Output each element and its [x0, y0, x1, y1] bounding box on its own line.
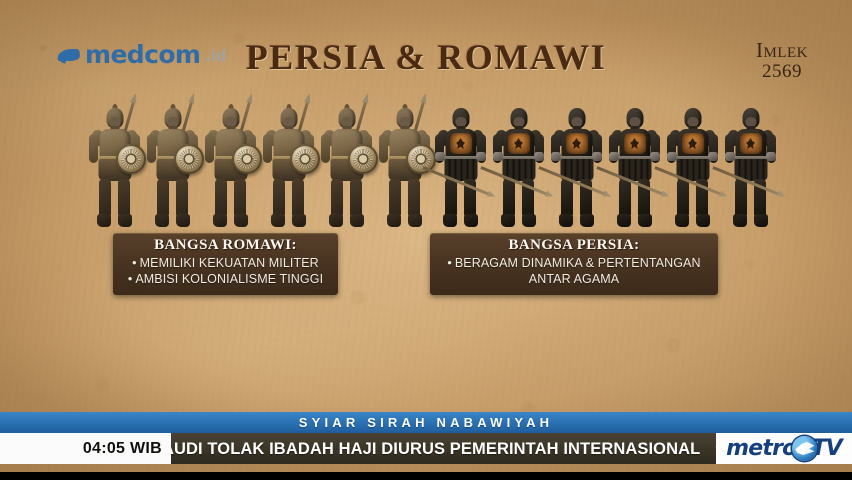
boot-left: [559, 214, 573, 227]
imlek-year: 2569: [756, 62, 808, 81]
boot-left: [617, 214, 631, 227]
broadcast-screen: medcom .id PERSIA & ROMAWI Imlek 2569: [0, 0, 852, 480]
persian-soldiers-group: [432, 108, 779, 230]
roman-soldier: [202, 108, 259, 230]
boot-left: [675, 214, 689, 227]
boot-right: [408, 214, 422, 227]
roman-soldier: [86, 108, 143, 230]
boot-left: [501, 214, 515, 227]
bullet-icon: •: [132, 256, 136, 270]
persian-soldier: [664, 108, 721, 230]
roman-soldiers-group: [86, 108, 433, 230]
boot-left: [271, 214, 285, 227]
bracer-right: [592, 152, 602, 161]
metrotv-logo: metro TV: [716, 433, 852, 464]
persian-soldier: [722, 108, 779, 230]
caption-item-text-continued: ANTAR AGAMA: [440, 272, 708, 288]
boot-left: [443, 214, 457, 227]
caption-title-romawi: BANGSA ROMAWI:: [123, 237, 328, 254]
leg-left: [445, 179, 457, 217]
caption-box-persia: BANGSA PERSIA: •BERAGAM DINAMIKA & PERTE…: [430, 233, 718, 295]
bracer-right: [650, 152, 660, 161]
bullet-icon: •: [128, 272, 132, 286]
boot-right: [464, 214, 478, 227]
caption-list-persia: •BERAGAM DINAMIKA & PERTENTANGAN ANTAR A…: [440, 256, 708, 288]
arm-left: [89, 134, 98, 163]
roman-soldier: [318, 108, 375, 230]
imlek-label: Imlek: [756, 40, 808, 61]
boot-right: [580, 214, 594, 227]
program-title: SYIAR SIRAH NABAWIYAH: [299, 415, 554, 430]
boot-right: [350, 214, 364, 227]
leg-right: [176, 179, 188, 217]
leg-left: [735, 179, 747, 217]
news-ticker-row: 04:05 WIB AUDI TOLAK IBADAH HAJI DIURUS …: [0, 433, 852, 464]
arm-left: [321, 134, 330, 163]
persian-soldier: [606, 108, 663, 230]
boot-right: [176, 214, 190, 227]
roman-soldier: [144, 108, 201, 230]
ornate-breastplate-icon: [624, 133, 646, 154]
bracer-right: [534, 152, 544, 161]
ornate-breastplate-icon: [740, 133, 762, 154]
leg-left: [215, 179, 227, 217]
separator-dot-icon: ●: [714, 438, 716, 457]
boot-right: [292, 214, 306, 227]
caption-item-text: MEMILIKI KEKUATAN MILITER: [140, 256, 319, 270]
headline-text: AUDI TOLAK IBADAH HAJI DIURUS PEMERINTAH…: [171, 440, 700, 458]
caption-item: •MEMILIKI KEKUATAN MILITER: [123, 256, 328, 272]
boot-right: [118, 214, 132, 227]
caption-title-persia: BANGSA PERSIA:: [440, 237, 708, 254]
leg-left: [503, 179, 515, 217]
boot-right: [638, 214, 652, 227]
caption-item-text: AMBISI KOLONIALISME TINGGI: [135, 272, 323, 286]
leg-left: [331, 179, 343, 217]
headline-text-wrap: AUDI TOLAK IBADAH HAJI DIURUS PEMERINTAH…: [171, 438, 716, 459]
arm-left: [379, 134, 388, 163]
leg-left: [677, 179, 689, 217]
ornate-breastplate-icon: [508, 133, 530, 154]
arm-left: [205, 134, 214, 163]
boot-left: [733, 214, 747, 227]
boot-right: [522, 214, 536, 227]
round-shield-icon: [116, 144, 146, 174]
imlek-badge: Imlek 2569: [756, 40, 808, 81]
leg-right: [234, 179, 246, 217]
arm-left: [147, 134, 156, 163]
bracer-right: [708, 152, 718, 161]
boot-left: [213, 214, 227, 227]
arm-left: [263, 134, 272, 163]
persian-soldier: [548, 108, 605, 230]
round-shield-icon: [348, 144, 378, 174]
ornate-breastplate-icon: [566, 133, 588, 154]
leg-right: [292, 179, 304, 217]
ornate-breastplate-icon: [682, 133, 704, 154]
roman-soldier: [260, 108, 317, 230]
round-shield-icon: [232, 144, 262, 174]
round-shield-icon: [174, 144, 204, 174]
leg-right: [118, 179, 130, 217]
page-title: PERSIA & ROMAWI: [0, 36, 852, 78]
boot-right: [696, 214, 710, 227]
headline-ticker[interactable]: AUDI TOLAK IBADAH HAJI DIURUS PEMERINTAH…: [171, 433, 716, 464]
boot-left: [97, 214, 111, 227]
caption-item: •BERAGAM DINAMIKA & PERTENTANGAN ANTAR A…: [440, 256, 708, 288]
leg-left: [619, 179, 631, 217]
caption-list-romawi: •MEMILIKI KEKUATAN MILITER •AMBISI KOLON…: [123, 256, 328, 288]
boot-left: [387, 214, 401, 227]
leg-left: [389, 179, 401, 217]
leg-left: [99, 179, 111, 217]
boot-right: [234, 214, 248, 227]
program-title-bar: SYIAR SIRAH NABAWIYAH: [0, 412, 852, 433]
bracer-right: [476, 152, 486, 161]
ornate-breastplate-icon: [450, 133, 472, 154]
persian-soldier: [432, 108, 489, 230]
boot-left: [329, 214, 343, 227]
metrotv-wordmark: metro: [726, 436, 796, 461]
caption-item-text: BERAGAM DINAMIKA & PERTENTANGAN: [455, 256, 701, 270]
leg-left: [273, 179, 285, 217]
leg-left: [157, 179, 169, 217]
clock-block: 04:05 WIB: [0, 433, 171, 464]
leg-right: [350, 179, 362, 217]
caption-box-romawi: BANGSA ROMAWI: •MEMILIKI KEKUATAN MILITE…: [113, 233, 338, 295]
leg-left: [561, 179, 573, 217]
leg-right: [408, 179, 420, 217]
boot-left: [155, 214, 169, 227]
boot-right: [754, 214, 768, 227]
bracer-right: [766, 152, 776, 161]
bullet-icon: •: [447, 256, 451, 270]
round-shield-icon: [290, 144, 320, 174]
letterbox-bottom: [0, 472, 852, 480]
persian-soldier: [490, 108, 547, 230]
caption-item: •AMBISI KOLONIALISME TINGGI: [123, 272, 328, 288]
clock-time: 04:05 WIB: [83, 440, 162, 458]
